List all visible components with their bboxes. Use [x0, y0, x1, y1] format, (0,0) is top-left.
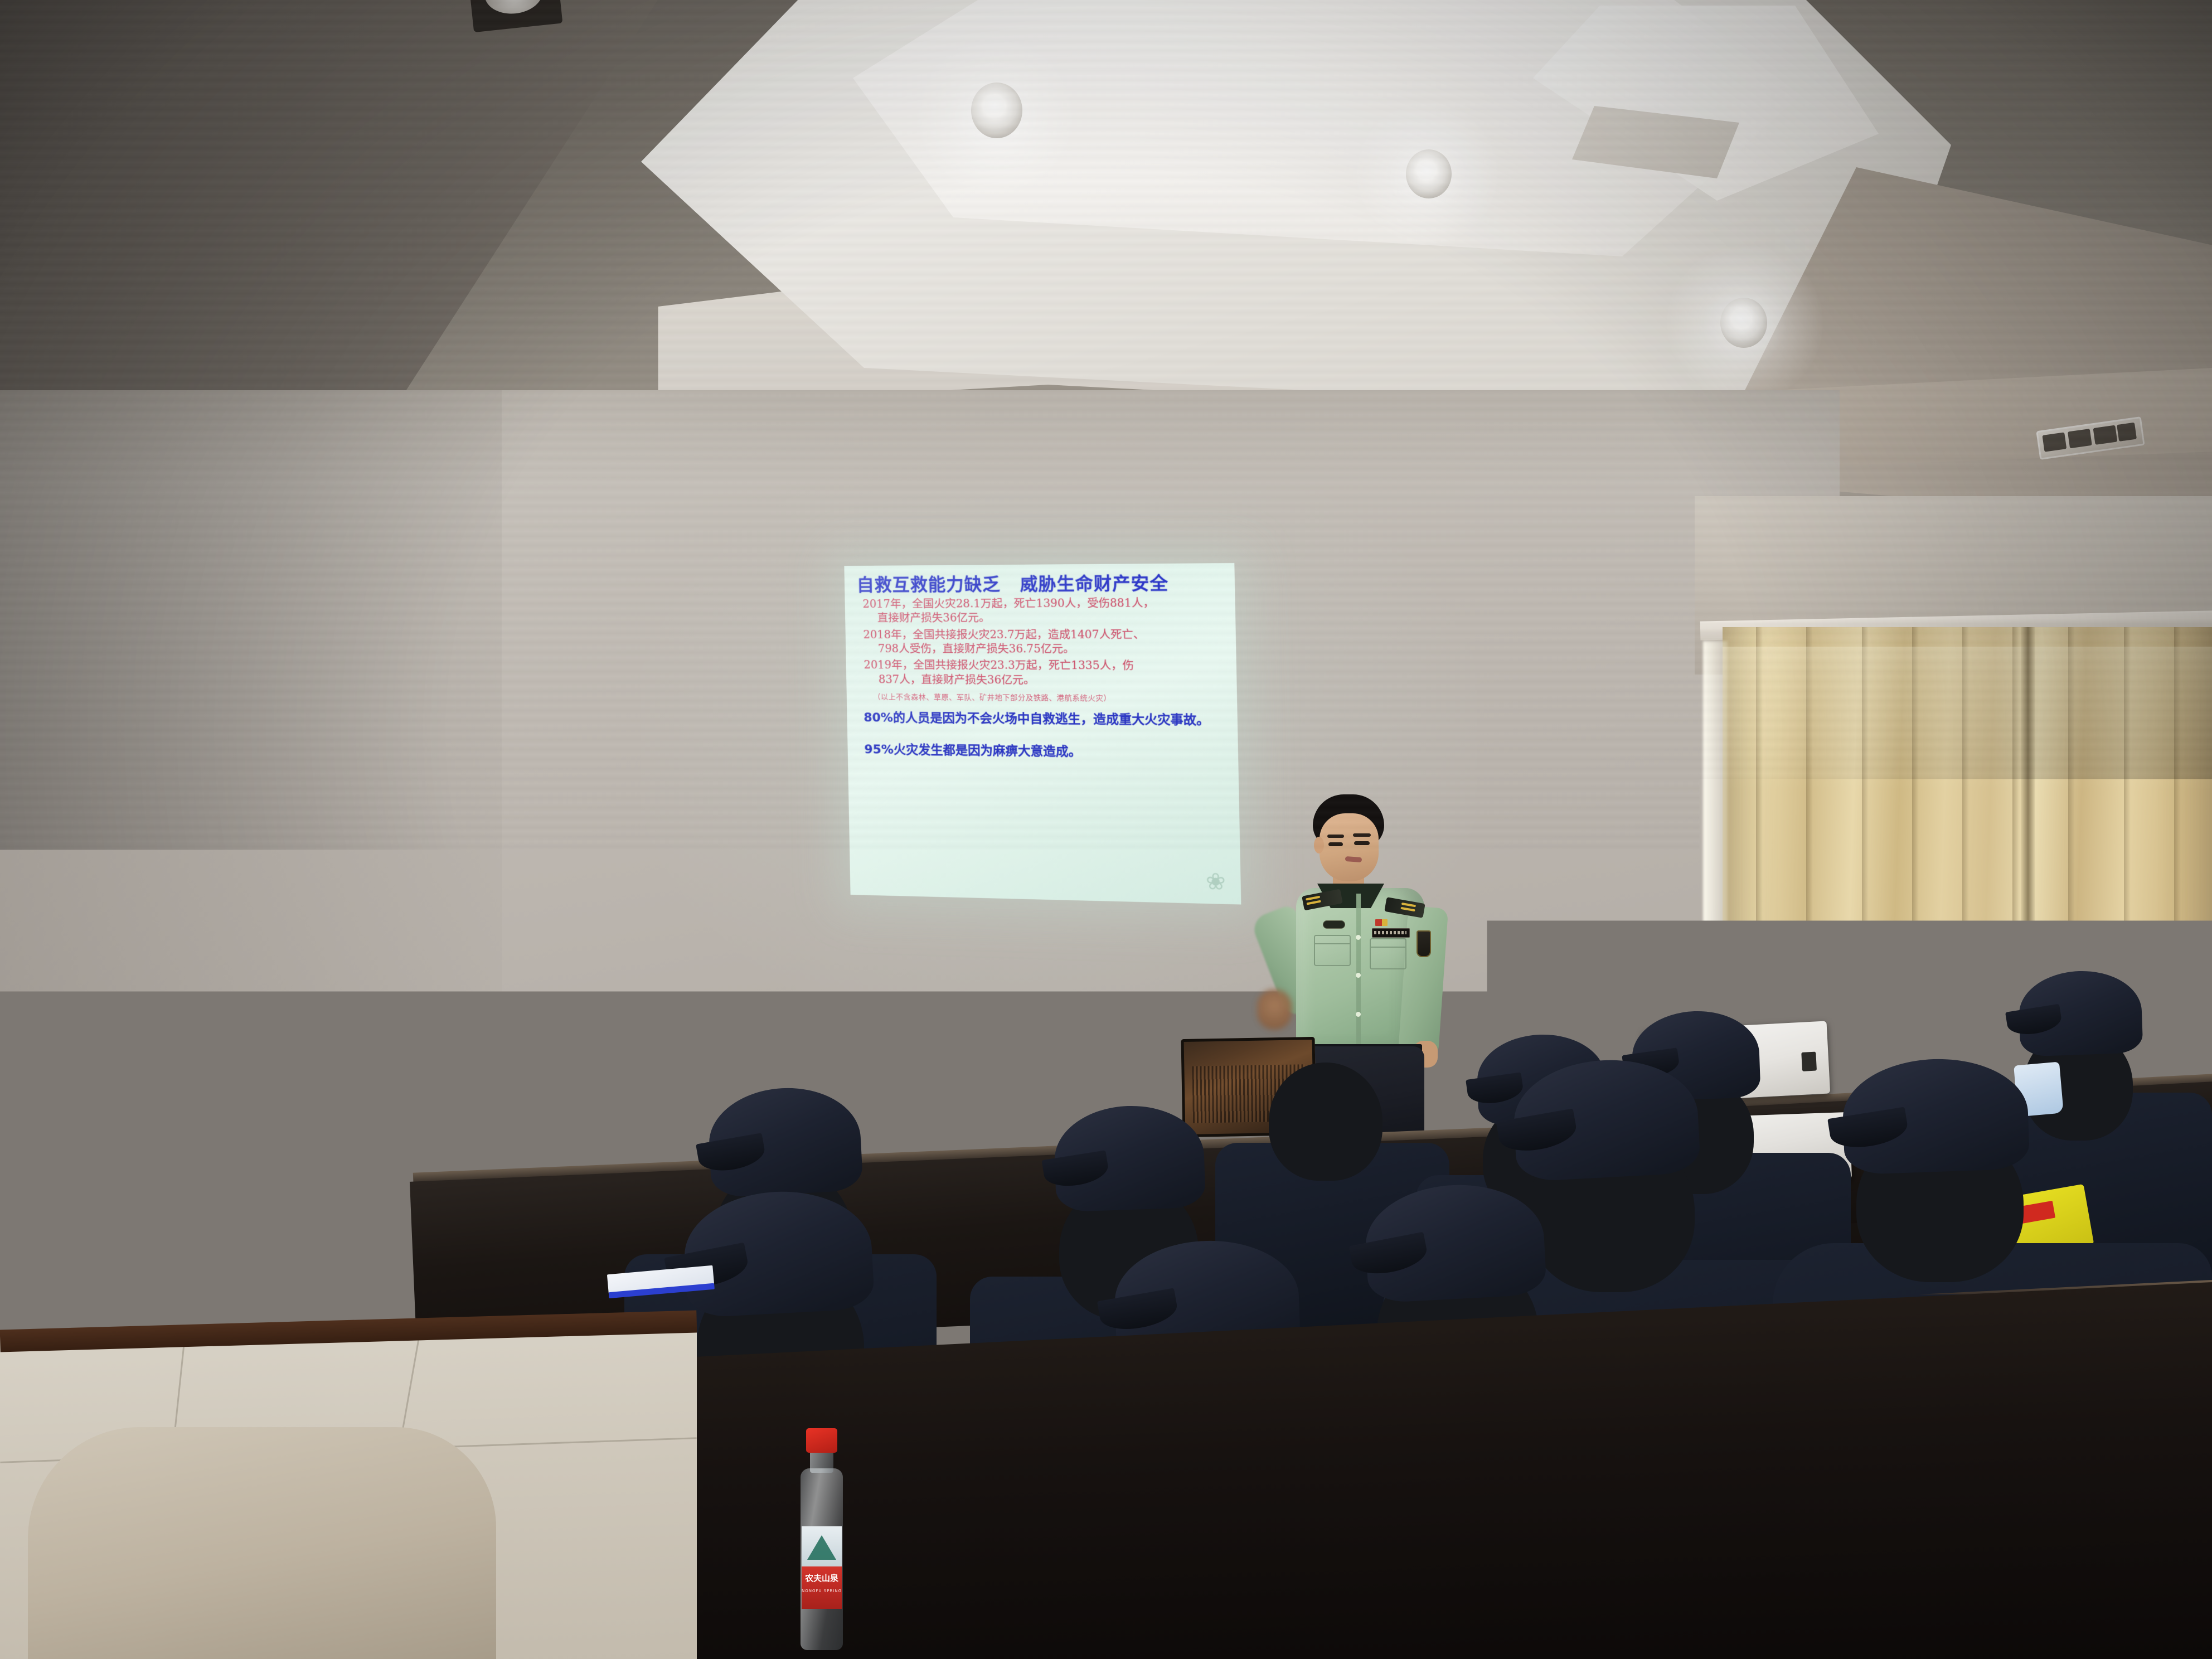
bottle-cap	[806, 1428, 837, 1453]
slide-title-right: 威胁生命财产安全	[1020, 573, 1168, 594]
slide-title-left: 自救互救能力缺乏	[857, 574, 1001, 595]
training-room-photo: 自救互救能力缺乏威胁生命财产安全 2017年，全国火灾28.1万起，死亡1390…	[0, 0, 2212, 1659]
slide-stat-80: 80%的人员是因为不会火场中自救逃生，造成重大火灾事故。	[864, 710, 1226, 729]
audience-head	[1269, 1063, 1382, 1181]
bottle-neck	[810, 1451, 833, 1473]
chair-back-left	[885, 1052, 1022, 1161]
presenter-flag-pin-icon	[1375, 919, 1388, 926]
curtain-backlight	[1723, 647, 2212, 792]
presenter-shoulder-patch-icon	[1417, 930, 1431, 957]
audience-face-mask	[363, 1390, 426, 1459]
water-bottle: 农夫山泉 NONGFU SPRING	[798, 1428, 845, 1651]
presenter-button-2	[1356, 973, 1361, 978]
slide-footnote: （以上不含森林、草原、军队、矿井地下部分及铁路、港航系统火灾）	[873, 691, 1225, 704]
presenter-left-hand	[1257, 989, 1292, 1030]
bottle-brand-en: NONGFU SPRING	[798, 1589, 845, 1593]
presenter-brow-left	[1327, 835, 1344, 838]
slide-bullet-2019: 2019年，全国共接报火灾23.3万起，死亡1335人，伤 837人，直接财产损…	[864, 658, 1225, 688]
slide-bullet-2018: 2018年，全国共接报火灾23.7万起，造成1407人死亡、 798人受伤，直接…	[863, 627, 1224, 657]
presenter-name-tag	[1372, 928, 1410, 938]
presenter-shirt-placket	[1356, 894, 1361, 1051]
presenter-wing-badge-icon	[1323, 920, 1345, 929]
slide-bullet-2017: 2017年，全国火灾28.1万起，死亡1390人，受伤881人， 直接财产损失3…	[862, 595, 1224, 625]
presenter-pocket-left	[1314, 935, 1351, 966]
presenter-button-1	[1356, 935, 1361, 940]
slide-title: 自救互救能力缺乏威胁生命财产安全	[857, 574, 1223, 595]
downlight-icon-2	[1406, 149, 1452, 198]
slide-stat-95: 95%火灾发生都是因为麻痹大意造成。	[864, 743, 1226, 762]
audience-head	[84, 1199, 424, 1511]
ceiling-shadow-left	[0, 0, 658, 424]
presenter-face	[1320, 813, 1379, 881]
presenter-pocket-right	[1370, 938, 1406, 969]
presenter-button-3	[1356, 1012, 1361, 1017]
presenter-eye-right	[1354, 841, 1370, 845]
projected-slide: 自救互救能力缺乏威胁生命财产安全 2017年，全国火灾28.1万起，死亡1390…	[844, 563, 1241, 905]
slide-watermark-icon: ❀	[1199, 865, 1233, 898]
downlight-icon-3	[1720, 298, 1767, 348]
presenter-brow-right	[1353, 833, 1371, 837]
presenter-ear	[1314, 837, 1324, 853]
bottle-brand-cn: 农夫山泉	[798, 1572, 845, 1584]
downlight-icon-1	[971, 83, 1022, 138]
window-light-gap	[1703, 641, 1728, 1042]
presenter-eye-left	[1328, 842, 1343, 846]
